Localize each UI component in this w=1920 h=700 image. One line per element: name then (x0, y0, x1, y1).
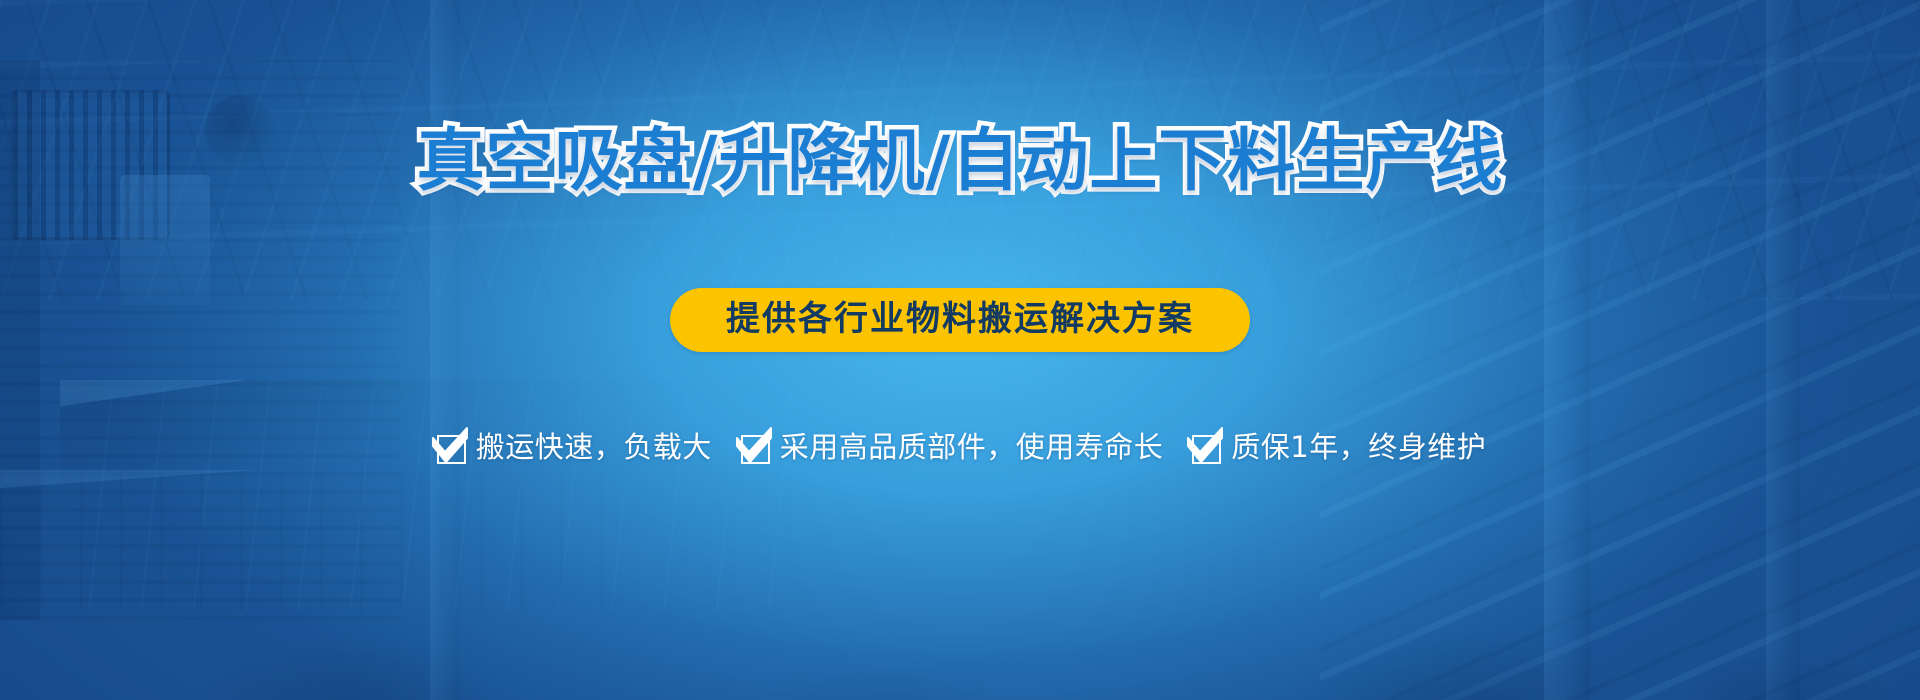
banner-content: 真空吸盘/升降机/自动上下料生产线 提供各行业物料搬运解决方案 搬运快速，负载大 (0, 0, 1920, 700)
feature-item: 质保1年，终身维护 (1189, 430, 1486, 464)
feature-item: 采用高品质部件，使用寿命长 (738, 430, 1164, 464)
badge-container: 提供各行业物料搬运解决方案 (0, 288, 1920, 352)
headline-container: 真空吸盘/升降机/自动上下料生产线 (0, 128, 1920, 196)
check-box-icon (738, 430, 772, 464)
check-box-icon (1189, 430, 1223, 464)
feature-list: 搬运快速，负载大 采用高品质部件，使用寿命长 质保1 (0, 430, 1920, 464)
banner-headline: 真空吸盘/升降机/自动上下料生产线 (417, 128, 1504, 196)
promo-banner: 真空吸盘/升降机/自动上下料生产线 提供各行业物料搬运解决方案 搬运快速，负载大 (0, 0, 1920, 700)
tagline-badge: 提供各行业物料搬运解决方案 (670, 288, 1250, 352)
feature-label: 质保1年，终身维护 (1231, 433, 1486, 462)
check-box-icon (434, 430, 468, 464)
feature-label: 采用高品质部件，使用寿命长 (780, 433, 1164, 462)
feature-label: 搬运快速，负载大 (476, 433, 712, 462)
feature-item: 搬运快速，负载大 (434, 430, 712, 464)
